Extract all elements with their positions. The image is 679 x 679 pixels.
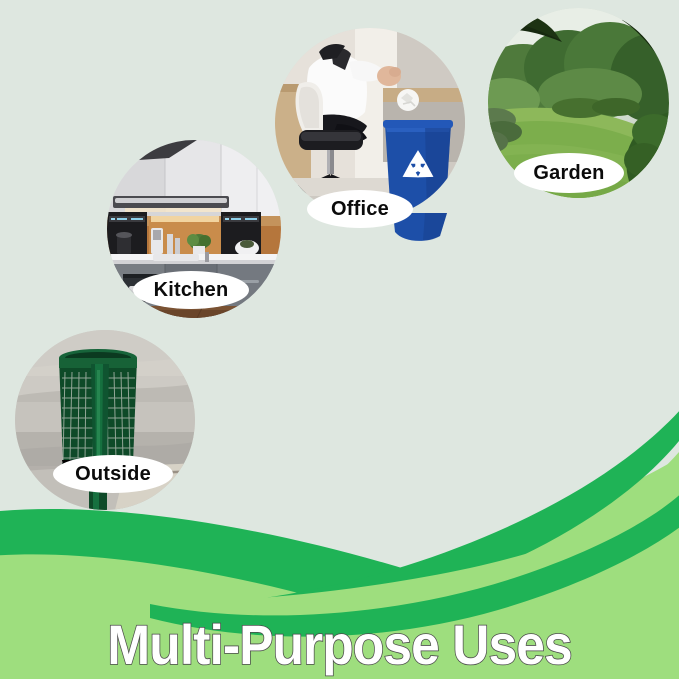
label-garden: Garden [514,153,624,193]
photo-circle-kitchen[interactable]: Kitchen [107,140,281,318]
promo-image: Garden [0,0,679,679]
label-garden-text: Garden [533,162,604,185]
label-kitchen-text: Kitchen [154,279,229,302]
label-office-text: Office [331,198,389,221]
label-office: Office [307,190,413,228]
page-title: Multi-Purpose Uses [27,612,652,677]
photo-circle-outside[interactable]: Outside [15,330,195,510]
photo-circle-garden[interactable]: Garden [488,8,669,198]
label-outside: Outside [53,455,173,493]
label-outside-text: Outside [75,463,151,486]
label-kitchen: Kitchen [133,271,249,309]
photo-circle-office[interactable]: Office [275,28,465,218]
